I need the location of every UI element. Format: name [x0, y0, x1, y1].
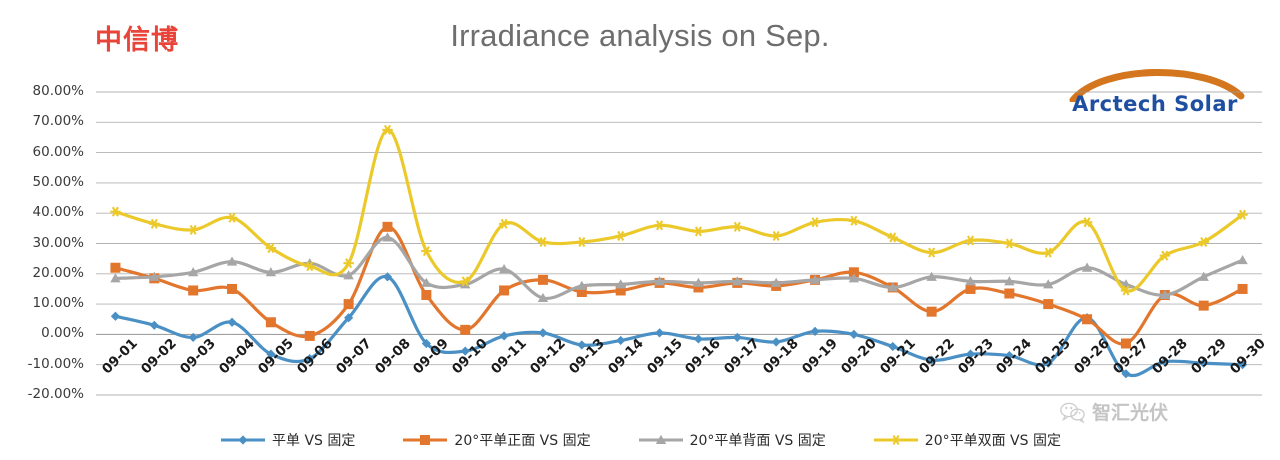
data-point-marker [1199, 301, 1209, 311]
data-point-marker [616, 231, 626, 240]
data-point-marker [499, 285, 509, 295]
data-point-marker [926, 248, 936, 257]
data-point-marker [538, 275, 548, 285]
legend-marker-icon [219, 432, 267, 448]
legend-item-3[interactable]: 20°平单背面 VS 固定 [637, 430, 826, 450]
data-point-marker [1004, 239, 1014, 248]
legend-label: 20°平单背面 VS 固定 [690, 430, 826, 450]
data-point-marker [305, 331, 315, 341]
data-point-marker [1043, 299, 1053, 309]
data-point-marker [1238, 284, 1248, 294]
data-point-marker [383, 222, 393, 232]
watermark: 智汇光伏 [1060, 398, 1168, 425]
wechat-icon [1060, 401, 1086, 423]
data-point-marker [538, 328, 547, 337]
data-point-marker [732, 222, 742, 231]
data-point-marker [891, 435, 901, 444]
legend-marker-icon [872, 432, 920, 448]
data-point-marker [966, 284, 976, 294]
data-point-marker [149, 219, 159, 228]
data-point-marker [771, 231, 781, 240]
data-point-marker [420, 435, 430, 445]
data-point-marker [266, 317, 276, 327]
data-point-marker [849, 216, 859, 225]
data-point-marker [188, 285, 198, 295]
chart-legend: 平单 VS 固定20°平单正面 VS 固定20°平单背面 VS 固定20°平单双… [0, 430, 1280, 450]
series-2 [110, 222, 1247, 349]
data-point-marker [810, 218, 820, 227]
data-point-marker [421, 290, 431, 300]
data-point-marker [1082, 314, 1092, 324]
data-point-marker [927, 307, 937, 317]
data-point-marker [110, 263, 120, 273]
data-point-marker [188, 225, 198, 234]
data-point-marker [693, 227, 703, 236]
data-point-marker [238, 435, 247, 444]
data-point-marker [654, 221, 664, 230]
data-point-marker [227, 318, 236, 327]
chart-screenshot: 中信博 Irradiance analysis on Sep. Arctech … [0, 0, 1280, 460]
data-point-marker [500, 331, 509, 340]
data-point-marker [577, 237, 587, 246]
legend-marker-icon [637, 432, 685, 448]
data-point-marker [111, 312, 120, 321]
data-point-marker [227, 284, 237, 294]
data-point-marker [227, 213, 237, 222]
chart-plot-area [0, 0, 1280, 460]
data-point-marker [655, 328, 664, 337]
legend-item-2[interactable]: 20°平单正面 VS 固定 [401, 430, 590, 450]
data-point-marker [110, 207, 120, 216]
data-point-marker [1004, 288, 1014, 298]
legend-label: 平单 VS 固定 [272, 430, 355, 450]
data-point-marker [1237, 255, 1247, 264]
legend-item-1[interactable]: 平单 VS 固定 [219, 430, 355, 450]
legend-marker-icon [401, 432, 449, 448]
legend-label: 20°平单正面 VS 固定 [454, 430, 590, 450]
series-3 [110, 232, 1248, 302]
data-point-marker [150, 321, 159, 330]
legend-label: 20°平单双面 VS 固定 [925, 430, 1061, 450]
watermark-text: 智汇光伏 [1092, 398, 1168, 425]
data-point-marker [344, 299, 354, 309]
data-point-marker [849, 330, 858, 339]
data-point-marker [460, 325, 470, 335]
legend-item-4[interactable]: 20°平单双面 VS 固定 [872, 430, 1061, 450]
data-point-marker [616, 336, 625, 345]
data-point-marker [694, 334, 703, 343]
